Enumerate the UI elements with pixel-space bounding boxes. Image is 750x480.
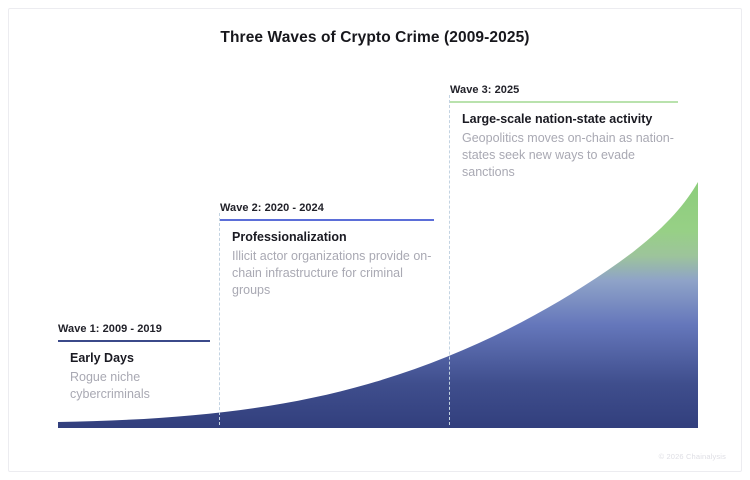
wave-3-heading: Large-scale nation-state activity bbox=[462, 112, 678, 126]
wave-block-2: Wave 2: 2020 - 2024 Professionalization … bbox=[220, 202, 434, 299]
wave-2-body: Professionalization Illicit actor organi… bbox=[220, 221, 434, 299]
wave-3-description: Geopolitics moves on-chain as nation-sta… bbox=[462, 130, 678, 181]
wave-2-period: Wave 2: 2020 - 2024 bbox=[220, 202, 434, 214]
wave-block-3: Wave 3: 2025 Large-scale nation-state ac… bbox=[450, 84, 678, 181]
wave-1-description: Rogue niche cybercriminals bbox=[70, 369, 210, 403]
wave-2-description: Illicit actor organizations provide on-c… bbox=[232, 248, 434, 299]
wave-block-1: Wave 1: 2009 - 2019 Early Days Rogue nic… bbox=[58, 323, 210, 403]
wave-2-heading: Professionalization bbox=[232, 230, 434, 244]
page-title: Three Waves of Crypto Crime (2009-2025) bbox=[0, 29, 750, 47]
wave-3-body: Large-scale nation-state activity Geopol… bbox=[450, 103, 678, 181]
wave-1-period: Wave 1: 2009 - 2019 bbox=[58, 323, 210, 335]
copyright-notice: © 2026 Chainalysis bbox=[659, 452, 726, 461]
wave-1-body: Early Days Rogue niche cybercriminals bbox=[58, 342, 210, 403]
wave-1-heading: Early Days bbox=[70, 351, 210, 365]
wave-3-period: Wave 3: 2025 bbox=[450, 84, 678, 96]
infographic-canvas: Three Waves of Crypto Crime (2009-2025) … bbox=[0, 0, 750, 480]
